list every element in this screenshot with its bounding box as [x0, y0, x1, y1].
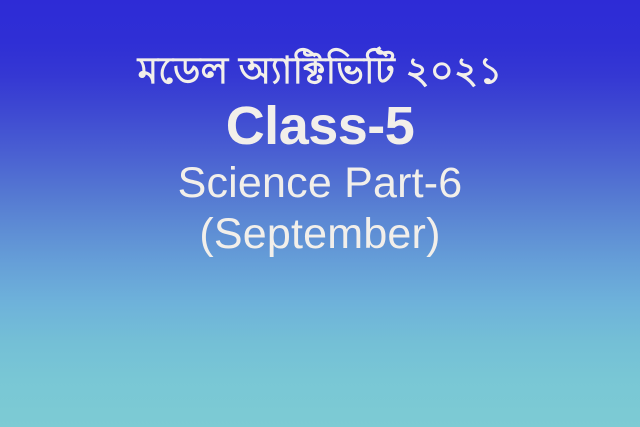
title-card: মডেল অ্যাক্টিভিটি ২০২১ Class-5 Science P…: [0, 0, 640, 427]
title-text-stack: মডেল অ্যাক্টিভিটি ২০২১ Class-5 Science P…: [0, 0, 640, 259]
class-heading: Class-5: [0, 97, 640, 156]
month-heading: (September): [0, 209, 640, 260]
bengali-title: মডেল অ্যাক্টিভিটি ২০২১: [0, 50, 640, 93]
subject-heading: Science Part-6: [0, 158, 640, 209]
